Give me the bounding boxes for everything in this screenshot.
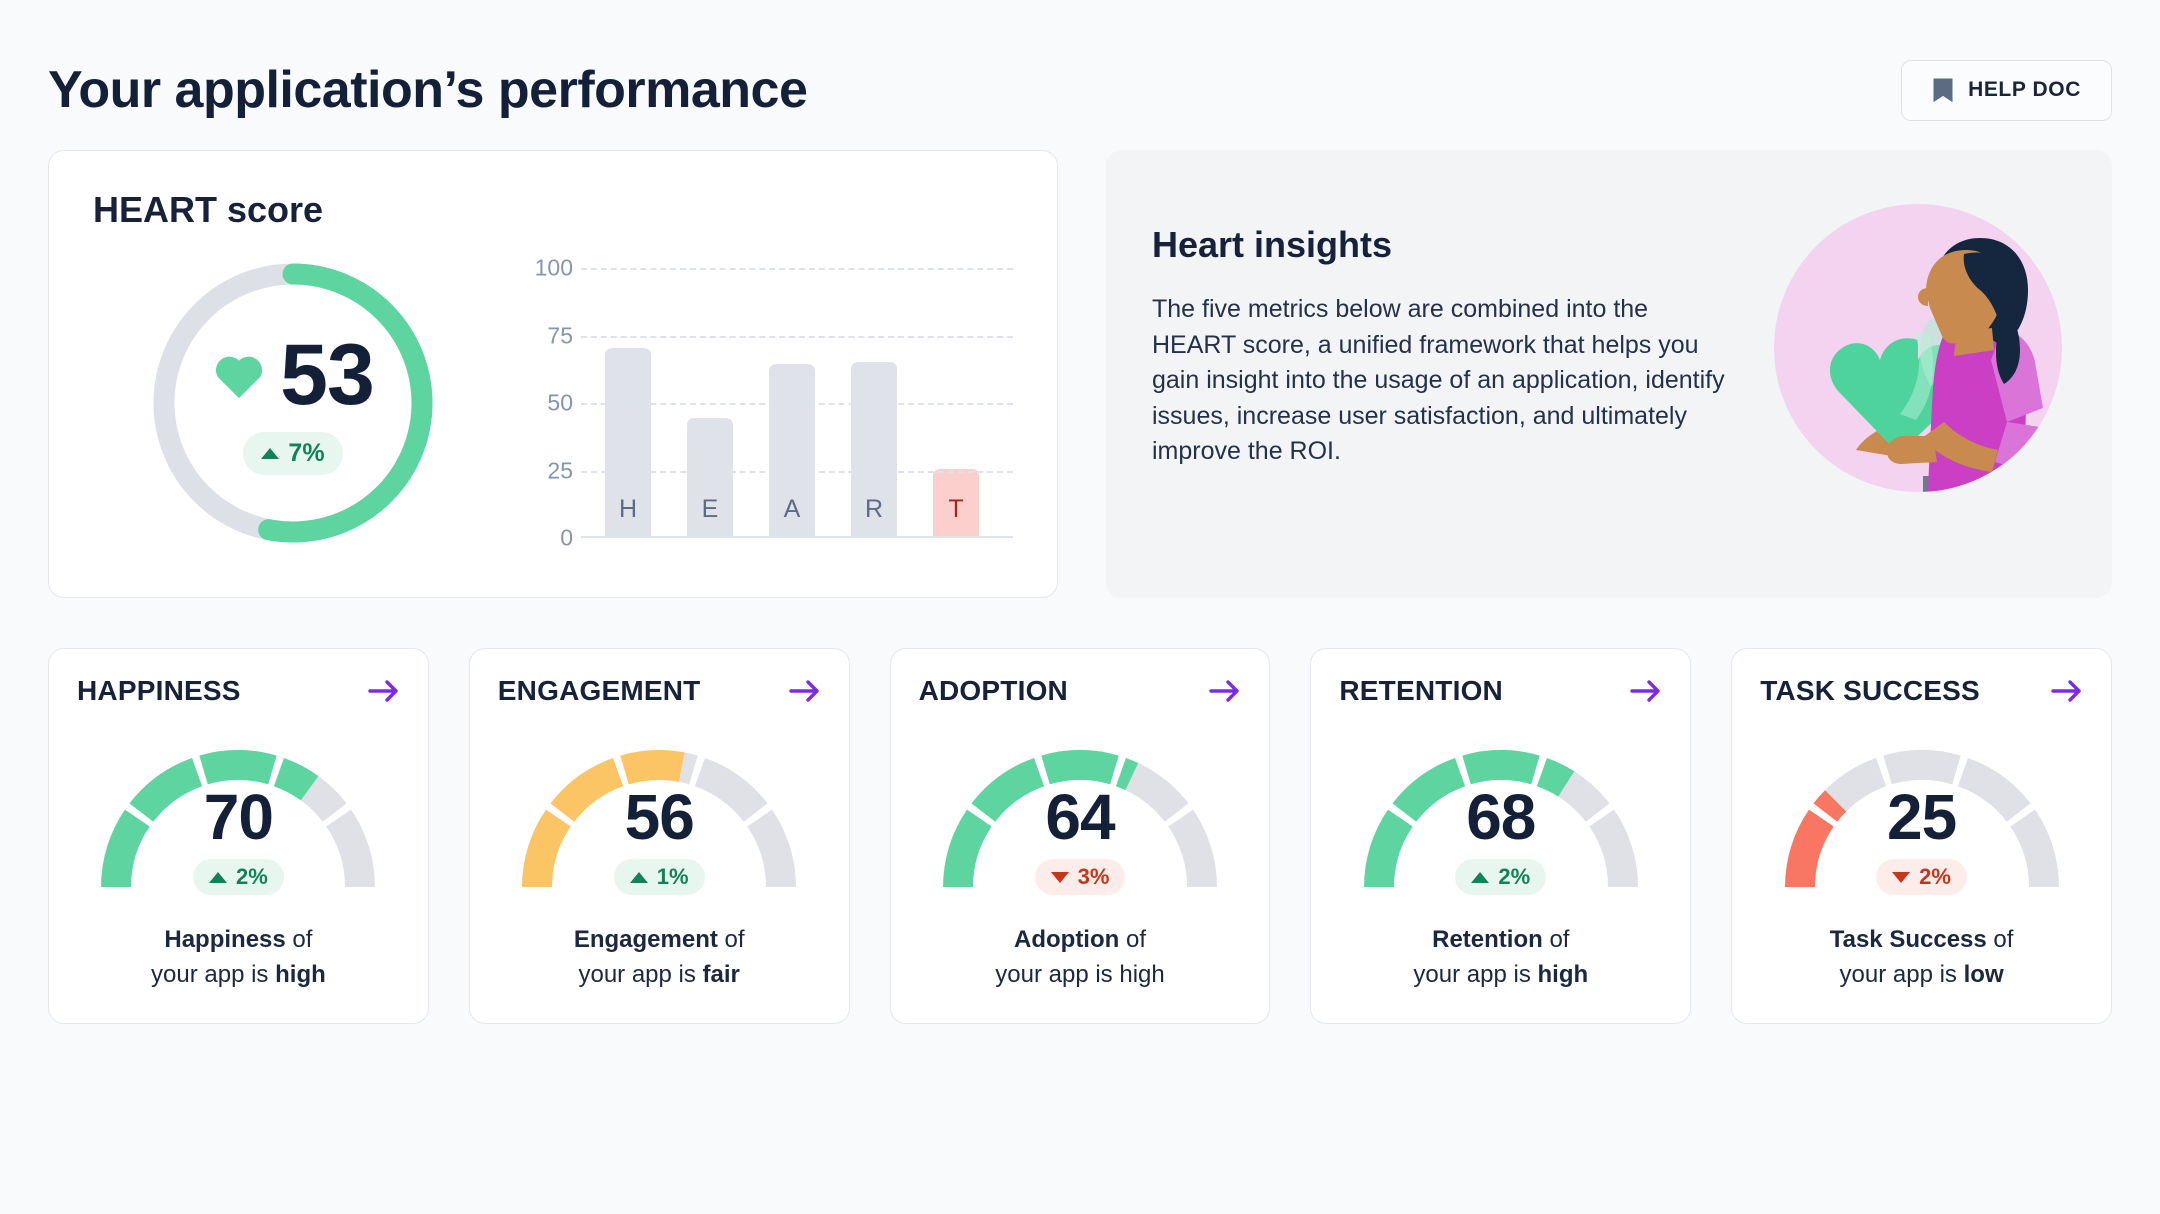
metric-name: Adoption — [1014, 926, 1119, 953]
metric-card-header: TASK SUCCESS — [1760, 675, 2083, 707]
heart-score-card: HEART score 53 — [48, 150, 1058, 598]
trend-up-icon — [261, 448, 279, 459]
metric-level: low — [1964, 961, 2004, 988]
chart-y-tick: 25 — [503, 457, 573, 484]
chart-bars: HEART — [605, 268, 1013, 536]
metric-card-engagement[interactable]: ENGAGEMENT 56 1% Engagement ofyour app i… — [469, 648, 850, 1024]
metric-card-title: TASK SUCCESS — [1760, 675, 1980, 707]
metric-delta-badge: 2% — [193, 859, 284, 895]
heart-score-body: 53 7% 1007550250 HEART — [93, 253, 1013, 553]
gauge-segment — [204, 765, 273, 770]
heart-score-donut: 53 7% — [143, 253, 443, 553]
chart-bar-label: H — [605, 495, 651, 524]
chart-bar-a[interactable]: A — [769, 364, 815, 536]
gauge-segment — [1046, 765, 1115, 770]
chart-bar-h[interactable]: H — [605, 348, 651, 536]
gauge-segment — [682, 767, 694, 770]
metric-gauge: 56 1% — [499, 729, 819, 897]
gauge-center: 25 2% — [1762, 785, 2082, 895]
metric-card-adoption[interactable]: ADOPTION 64 3% Adoption ofyour app is hi… — [890, 648, 1271, 1024]
metric-delta-badge: 1% — [614, 859, 705, 895]
arrow-right-icon[interactable] — [2051, 678, 2083, 704]
chart-y-tick: 75 — [503, 322, 573, 349]
metric-delta-value: 2% — [1498, 864, 1530, 890]
chart-baseline — [581, 536, 1013, 538]
help-doc-label: HELP DOC — [1968, 78, 2081, 102]
gauge-segment — [1887, 765, 1956, 770]
overview-row: HEART score 53 — [48, 150, 2112, 598]
metric-delta-value: 3% — [1078, 864, 1110, 890]
chart-bar-label: T — [933, 495, 979, 524]
arrow-right-icon[interactable] — [368, 678, 400, 704]
help-doc-button[interactable]: HELP DOC — [1901, 60, 2112, 121]
chart-bar-r[interactable]: R — [851, 362, 897, 536]
metric-card-title: ADOPTION — [919, 675, 1068, 707]
metric-gauge: 25 2% — [1762, 729, 2082, 897]
arrow-right-icon[interactable] — [789, 678, 821, 704]
gauge-center: 68 2% — [1341, 785, 1661, 895]
metric-card-header: ADOPTION — [919, 675, 1242, 707]
metric-gauge: 64 3% — [920, 729, 1240, 897]
metric-description: Adoption ofyour app is high — [995, 923, 1164, 993]
metric-card-title: HAPPINESS — [77, 675, 241, 707]
trend-up-icon — [1471, 872, 1489, 883]
chart-gridline — [581, 268, 1013, 270]
metric-level: high — [275, 961, 326, 988]
gauge-segment — [1121, 772, 1132, 777]
metric-gauge: 68 2% — [1341, 729, 1661, 897]
metric-card-happiness[interactable]: HAPPINESS 70 2% Happiness ofyour app is … — [48, 648, 429, 1024]
chart-y-tick: 100 — [503, 255, 573, 282]
heart-score-delta-badge: 7% — [243, 432, 342, 475]
metric-delta-value: 2% — [1919, 864, 1951, 890]
gauge-segment — [625, 765, 682, 770]
metric-card-title: RETENTION — [1339, 675, 1503, 707]
insights-body: The five metrics below are combined into… — [1152, 292, 1732, 470]
metric-description: Happiness ofyour app is high — [151, 923, 326, 993]
heart-score-title: HEART score — [93, 189, 1013, 231]
chart-plot-area: HEART — [581, 268, 1013, 538]
gauge-center: 56 1% — [499, 785, 819, 895]
metric-value: 70 — [204, 785, 273, 849]
gauge-segment — [1542, 772, 1566, 784]
chart-y-tick: 50 — [503, 390, 573, 417]
metric-delta-value: 1% — [657, 864, 689, 890]
woman-holding-heart-illustration — [1768, 198, 2068, 498]
chart-y-axis: 1007550250 — [503, 268, 573, 538]
metric-card-header: ENGAGEMENT — [498, 675, 821, 707]
chart-gridline — [581, 336, 1013, 338]
metric-value: 68 — [1466, 785, 1535, 849]
metric-gauge: 70 2% — [78, 729, 398, 897]
trend-up-icon — [630, 872, 648, 883]
chart-bar-label: R — [851, 495, 897, 524]
gauge-center: 70 2% — [78, 785, 398, 895]
trend-down-icon — [1051, 872, 1069, 883]
heart-score-value: 53 — [280, 332, 374, 418]
metric-name: Task Success — [1830, 926, 1987, 953]
metric-card-retention[interactable]: RETENTION 68 2% Retention ofyour app is … — [1310, 648, 1691, 1024]
chart-y-tick: 0 — [503, 525, 573, 552]
metric-card-task-success[interactable]: TASK SUCCESS 25 2% Task Success ofyour a… — [1731, 648, 2112, 1024]
chart-gridline — [581, 471, 1013, 473]
page-header: Your application’s performance HELP DOC — [48, 0, 2112, 150]
chart-gridline — [581, 403, 1013, 405]
metric-delta-badge: 2% — [1876, 859, 1967, 895]
metric-card-header: RETENTION — [1339, 675, 1662, 707]
bookmark-icon — [1932, 77, 1954, 104]
metric-cards-row: HAPPINESS 70 2% Happiness ofyour app is … — [48, 648, 2112, 1024]
metric-delta-badge: 2% — [1455, 859, 1546, 895]
metric-delta-value: 2% — [236, 864, 268, 890]
arrow-right-icon[interactable] — [1209, 678, 1241, 704]
metric-description: Retention ofyour app is high — [1413, 923, 1588, 993]
metric-card-header: HAPPINESS — [77, 675, 400, 707]
arrow-right-icon[interactable] — [1630, 678, 1662, 704]
metric-value: 25 — [1887, 785, 1956, 849]
heart-donut-center: 53 7% — [143, 253, 443, 553]
chart-bar-label: A — [769, 495, 815, 524]
metric-description: Engagement ofyour app is fair — [574, 923, 745, 993]
gauge-segment — [1466, 765, 1535, 770]
metric-value: 64 — [1045, 785, 1114, 849]
trend-down-icon — [1892, 872, 1910, 883]
gauge-center: 64 3% — [920, 785, 1240, 895]
trend-up-icon — [209, 872, 227, 883]
metric-level: fair — [703, 961, 740, 988]
heart-bar-chart: 1007550250 HEART — [503, 268, 1013, 538]
heart-icon — [212, 350, 266, 400]
heart-score-delta-value: 7% — [288, 439, 324, 468]
chart-bar-t[interactable]: T — [933, 469, 979, 536]
dashboard-page: Your application’s performance HELP DOC … — [0, 0, 2160, 1214]
metric-name: Engagement — [574, 926, 718, 953]
metric-delta-badge: 3% — [1035, 859, 1126, 895]
metric-name: Retention — [1432, 926, 1543, 953]
heart-donut-wrap: 53 7% — [93, 253, 493, 553]
metric-description: Task Success ofyour app is low — [1830, 923, 2014, 993]
metric-level: high — [1538, 961, 1589, 988]
chart-bar-e[interactable]: E — [687, 418, 733, 536]
metric-level: high — [1119, 961, 1164, 988]
metric-card-title: ENGAGEMENT — [498, 675, 701, 707]
heart-insights-panel: Heart insights The five metrics below ar… — [1106, 150, 2112, 598]
page-title: Your application’s performance — [48, 60, 807, 120]
chart-bar-label: E — [687, 495, 733, 524]
metric-value: 56 — [625, 785, 694, 849]
metric-name: Happiness — [164, 926, 285, 953]
